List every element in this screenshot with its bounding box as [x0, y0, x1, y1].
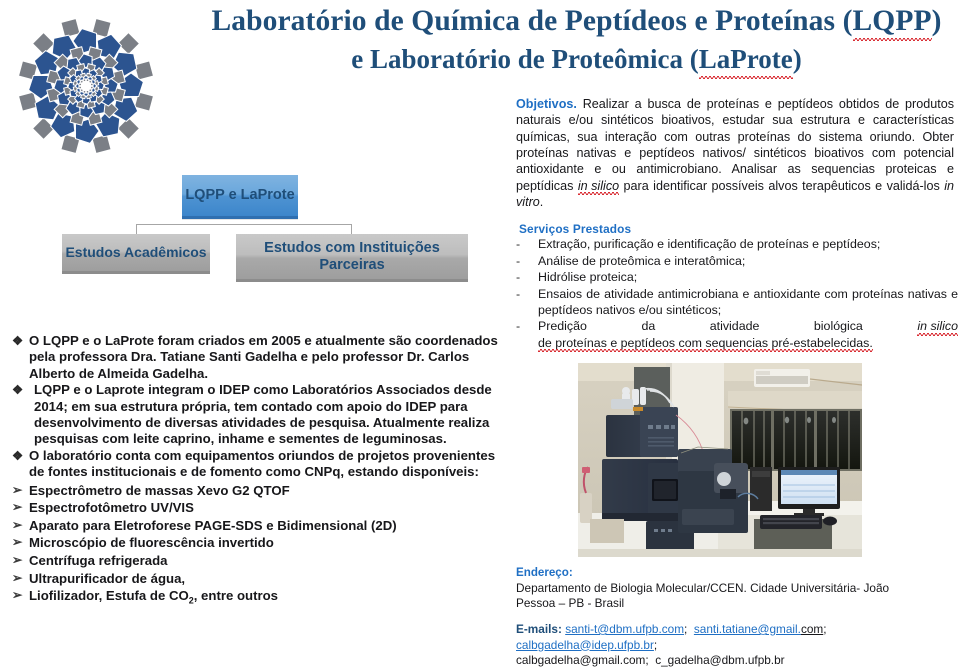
service-item-label: Hidrólise proteica;: [538, 269, 958, 285]
diamond-bullet-icon: ❖: [12, 382, 29, 398]
left-body-block: ❖ O LQPP e o LaProte foram criados em 20…: [12, 333, 500, 610]
equipment-last-prefix: Liofilizador, Estufa de CO: [29, 588, 189, 603]
arrow-bullet-icon: ➢: [12, 552, 28, 570]
emails-block: E-mails: santi-t@dbm.ufpb.com; santi.tat…: [516, 622, 964, 669]
address-line-2: Pessoa – PB - Brasil: [516, 596, 956, 611]
overview-list: ❖ O LQPP e o LaProte foram criados em 20…: [12, 333, 500, 481]
email-link-3[interactable]: calbgadelha@idep.ufpb.br: [516, 638, 654, 652]
arrow-bullet-icon: ➢: [12, 517, 28, 535]
emails-label: E-mails:: [516, 622, 562, 636]
org-node-root: LQPP e LaProte: [182, 175, 298, 219]
equipment-last-suffix: , entre outros: [194, 588, 278, 603]
connector-horizontal: [136, 224, 352, 225]
equipment-item-label: Espectrofotômetro UV/VIS: [28, 499, 500, 517]
service-item: - Análise de proteômica e interatômica;: [516, 253, 958, 269]
equipment-item-label: Microscópio de fluorescência invertido: [28, 534, 500, 552]
list-item: ❖ O LQPP e o LaProte foram criados em 20…: [12, 333, 500, 382]
title-line-2: e Laboratório de Proteômica (LaProte): [186, 41, 967, 78]
address-block: Departamento de Biologia Molecular/CCEN.…: [516, 581, 956, 612]
mass-spectrometer-photo: [578, 363, 862, 557]
arrow-bullet-icon: ➢: [12, 587, 28, 605]
email-link-1[interactable]: santi-t@dbm.ufpb.com: [565, 622, 684, 636]
email-separator: ;: [654, 638, 657, 652]
objectives-heading: Objetivos.: [516, 97, 577, 111]
arrow-bullet-icon: ➢: [12, 482, 28, 500]
diamond-bullet-icon: ❖: [12, 448, 29, 464]
email-separator: ;: [823, 622, 826, 636]
services-list: - Extração, purificação e identificação …: [516, 236, 958, 351]
equipment-item: ➢ Espectrômetro de massas Xevo G2 QTOF: [12, 482, 500, 500]
equipment-item-label: Centrífuga refrigerada: [28, 552, 500, 570]
service-item-post: de proteínas e peptídeos com sequencias …: [538, 335, 873, 351]
arrow-bullet-icon: ➢: [12, 534, 28, 552]
service-item-label: Análise de proteômica e interatômica;: [538, 253, 958, 269]
email-plain-1: calbgadelha@gmail.com: [516, 653, 645, 667]
equipment-item: ➢ Aparato para Eletroforese PAGE-SDS e B…: [12, 517, 500, 535]
org-node-academic-studies: Estudos Acadêmicos: [62, 234, 210, 274]
dash-bullet-icon: -: [516, 253, 538, 269]
equipment-item-label: Espectrômetro de massas Xevo G2 QTOF: [28, 482, 500, 500]
email-plain-2: c_gadelha@dbm.ufpb.br: [655, 653, 784, 667]
service-item-italic: in silico: [917, 318, 958, 334]
equipment-list: ➢ Espectrômetro de massas Xevo G2 QTOF ➢…: [12, 482, 500, 611]
equipment-item: ➢ Liofilizador, Estufa de CO2, entre out…: [12, 587, 500, 610]
title-line-1: Laboratório de Química de Peptídeos e Pr…: [186, 2, 967, 40]
equipment-item-label: Liofilizador, Estufa de CO2, entre outro…: [28, 587, 500, 610]
list-item-label: O laboratório conta com equipamentos ori…: [29, 448, 500, 481]
objectives-text-3: .: [540, 195, 544, 209]
dash-bullet-icon: -: [516, 318, 538, 334]
address-line-1: Departamento de Biologia Molecular/CCEN.…: [516, 581, 956, 596]
service-item: - Predição da atividade biológica in sil…: [516, 318, 958, 350]
dash-bullet-icon: -: [516, 269, 538, 285]
equipment-item: ➢ Centrífuga refrigerada: [12, 552, 500, 570]
services-heading: Serviços Prestados: [519, 222, 631, 236]
arrow-bullet-icon: ➢: [12, 499, 28, 517]
equipment-item: ➢ Ultrapurificador de água,: [12, 570, 500, 588]
email-link-2[interactable]: santi.tatiane@gmail.: [694, 622, 801, 636]
list-item-label: LQPP e o Laprote integram o IDEP como La…: [29, 382, 500, 448]
email-separator: ;: [684, 622, 687, 636]
arrow-bullet-icon: ➢: [12, 570, 28, 588]
mandala-logo: [6, 14, 176, 164]
service-item-pre: Predição da atividade biológica: [538, 319, 917, 333]
service-item-label: Ensaios de atividade antimicrobiana e an…: [538, 286, 958, 318]
equipment-item-label: Aparato para Eletroforese PAGE-SDS e Bid…: [28, 517, 500, 535]
equipment-item-label: Ultrapurificador de água,: [28, 570, 500, 588]
service-item-label: Extração, purificação e identificação de…: [538, 236, 958, 252]
list-item: ❖ LQPP e o Laprote integram o IDEP como …: [12, 382, 500, 448]
email-partial-plain: com: [801, 622, 823, 636]
service-item: - Hidrólise proteica;: [516, 269, 958, 285]
objectives-text-2: para identificar possíveis alvos terapêu…: [619, 179, 944, 193]
equipment-item: ➢ Espectrofotômetro UV/VIS: [12, 499, 500, 517]
org-node-partner-institutions: Estudos com Instituições Parceiras: [236, 234, 468, 282]
org-chart: LQPP e LaProte Estudos Acadêmicos Estudo…: [56, 168, 486, 288]
diamond-bullet-icon: ❖: [12, 333, 29, 349]
objectives-block: Objetivos. Realizar a busca de proteínas…: [516, 96, 954, 210]
dash-bullet-icon: -: [516, 236, 538, 252]
services-block: - Extração, purificação e identificação …: [516, 236, 958, 351]
list-item: ❖ O laboratório conta com equipamentos o…: [12, 448, 500, 481]
address-heading: Endereço:: [516, 566, 573, 579]
service-item-label: Predição da atividade biológica in silic…: [538, 318, 958, 350]
objectives-italic-1: in silico: [578, 178, 619, 194]
dash-bullet-icon: -: [516, 286, 538, 302]
poster-page: Laboratório de Química de Peptídeos e Pr…: [0, 0, 967, 668]
list-item-label: O LQPP e o LaProte foram criados em 2005…: [29, 333, 500, 382]
equipment-item: ➢ Microscópio de fluorescência invertido: [12, 534, 500, 552]
email-separator: ;: [645, 653, 648, 667]
service-item: - Extração, purificação e identificação …: [516, 236, 958, 252]
service-item: - Ensaios de atividade antimicrobiana e …: [516, 286, 958, 318]
poster-title: Laboratório de Química de Peptídeos e Pr…: [186, 2, 967, 78]
